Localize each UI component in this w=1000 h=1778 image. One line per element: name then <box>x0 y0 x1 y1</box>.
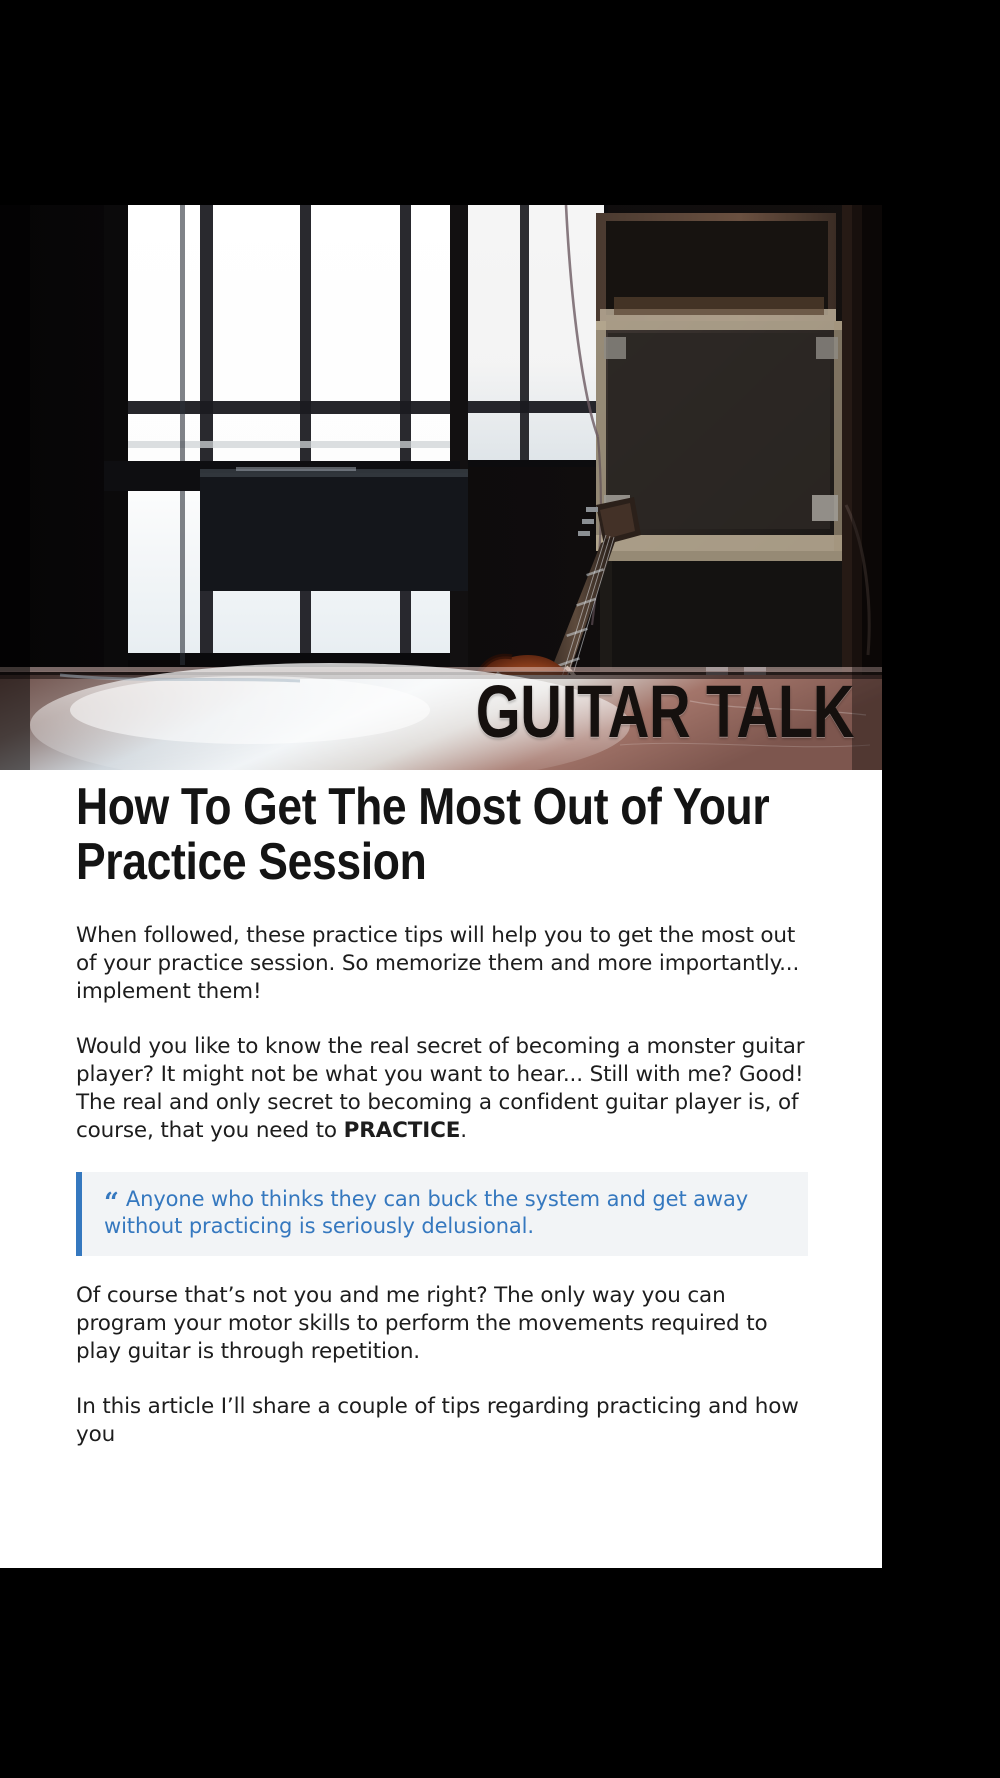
paragraph-secret-tail: . <box>460 1118 467 1143</box>
letterbox-top <box>0 0 1000 205</box>
masthead-title: GUITAR TALK <box>476 678 854 746</box>
article-page: GUITAR TALK How To Get The Most Out of Y… <box>0 0 882 1568</box>
letterbox-bottom <box>0 1568 1000 1778</box>
hero-photo: GUITAR TALK <box>0 205 882 770</box>
article-content: How To Get The Most Out of Your Practice… <box>0 780 882 1476</box>
page-title: How To Get The Most Out of Your Practice… <box>76 780 808 890</box>
pullquote-text: Anyone who thinks they can buck the syst… <box>104 1187 748 1238</box>
quote-mark-icon: “ <box>104 1188 119 1218</box>
paragraph-secret-emphasis: PRACTICE <box>344 1118 461 1143</box>
paragraph-repetition: Of course that’s not you and me right? T… <box>76 1282 808 1366</box>
paragraph-intro: When followed, these practice tips will … <box>76 922 808 1006</box>
pullquote: “Anyone who thinks they can buck the sys… <box>76 1172 808 1257</box>
content-clip-edge <box>0 1540 882 1568</box>
paragraph-secret: Would you like to know the real secret o… <box>76 1033 808 1145</box>
paragraph-article-preview: In this article I’ll share a couple of t… <box>76 1393 808 1449</box>
letterbox-right <box>882 0 1000 1778</box>
